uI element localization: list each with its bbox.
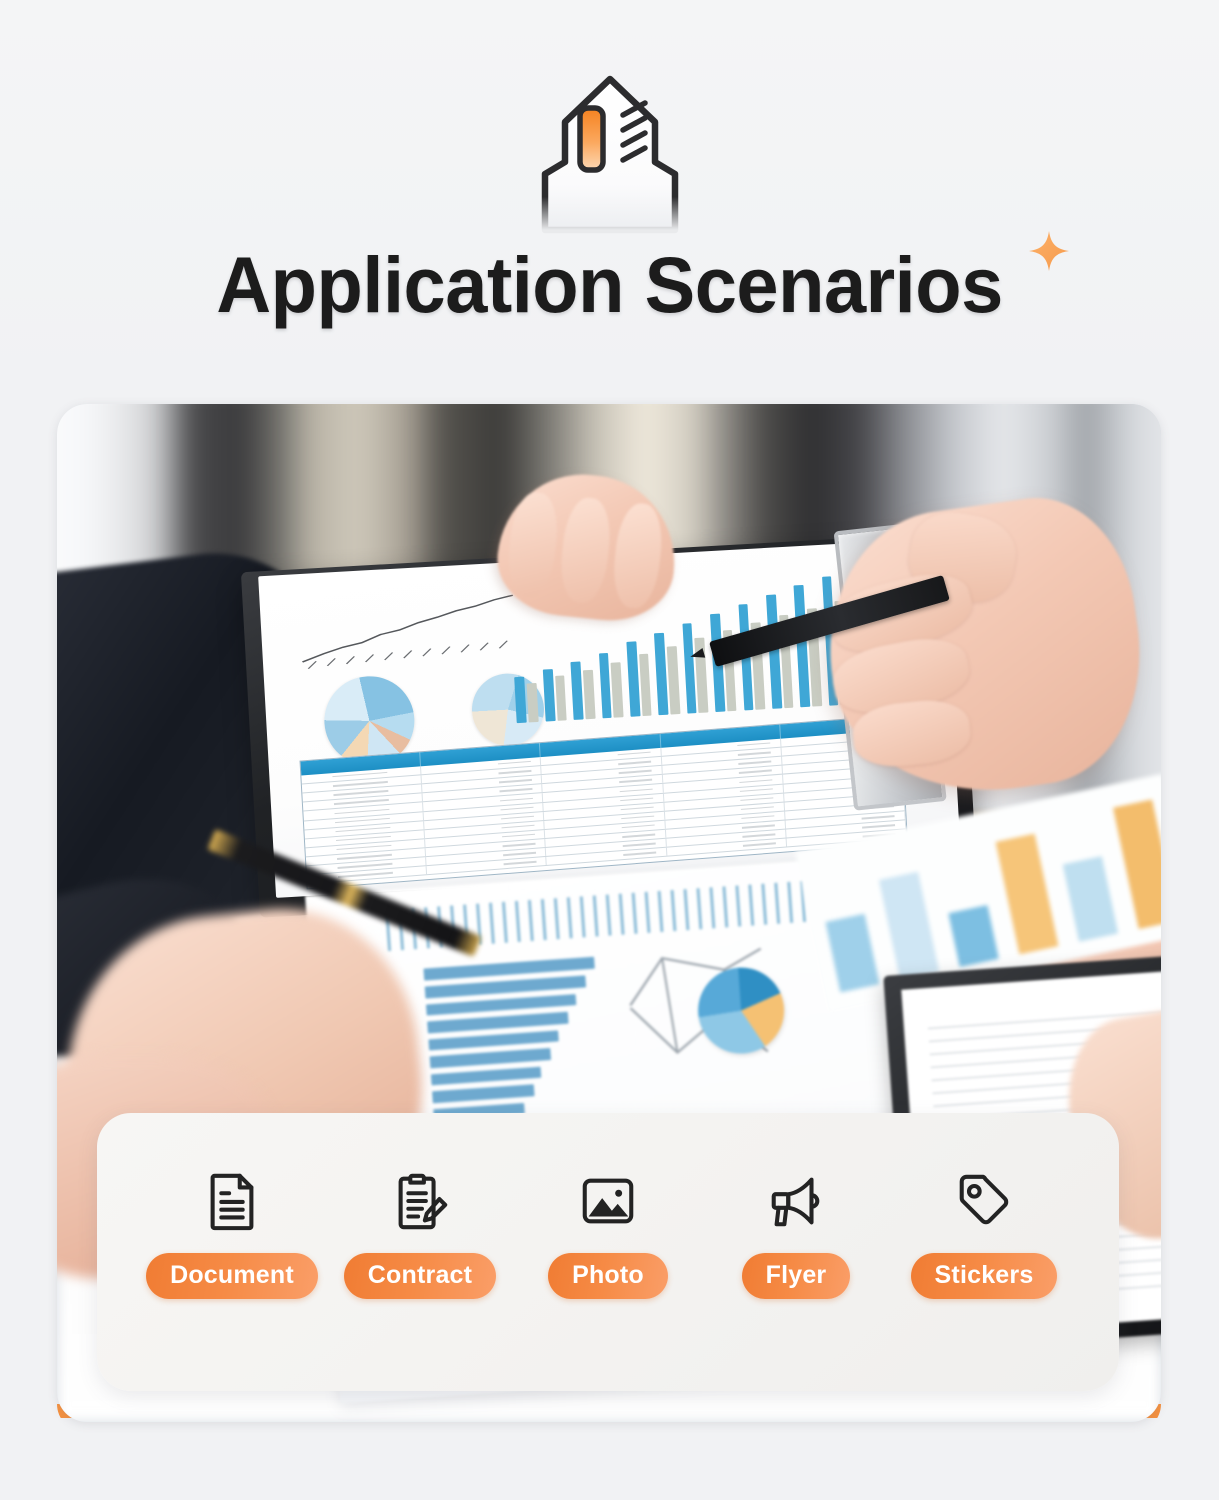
scenario-chips-row: Document Contract bbox=[97, 1169, 1119, 1299]
scenario-chip-label[interactable]: Contract bbox=[344, 1253, 496, 1299]
scenario-item-document[interactable]: Document bbox=[143, 1169, 321, 1299]
scenario-item-flyer[interactable]: Flyer bbox=[707, 1169, 885, 1299]
sparkle-icon bbox=[1026, 228, 1072, 274]
price-tag-icon bbox=[952, 1169, 1016, 1233]
scenario-chips-card: Document Contract bbox=[97, 1113, 1119, 1391]
document-icon bbox=[200, 1169, 264, 1233]
scenario-chip-label[interactable]: Document bbox=[146, 1253, 318, 1299]
page-title-text: Application Scenarios bbox=[216, 245, 1002, 324]
scenario-item-stickers[interactable]: Stickers bbox=[895, 1169, 1073, 1299]
scenario-chip-label[interactable]: Flyer bbox=[742, 1253, 851, 1299]
scenario-chip-label[interactable]: Photo bbox=[548, 1253, 668, 1299]
building-skyscraper-icon bbox=[505, 62, 715, 237]
scenario-chip-label[interactable]: Stickers bbox=[911, 1253, 1058, 1299]
page-header: Application Scenarios bbox=[0, 0, 1219, 392]
clipboard-pen-icon bbox=[388, 1169, 452, 1233]
image-icon bbox=[576, 1169, 640, 1233]
scenario-item-contract[interactable]: Contract bbox=[331, 1169, 509, 1299]
scenario-item-photo[interactable]: Photo bbox=[519, 1169, 697, 1299]
megaphone-icon bbox=[764, 1169, 828, 1233]
